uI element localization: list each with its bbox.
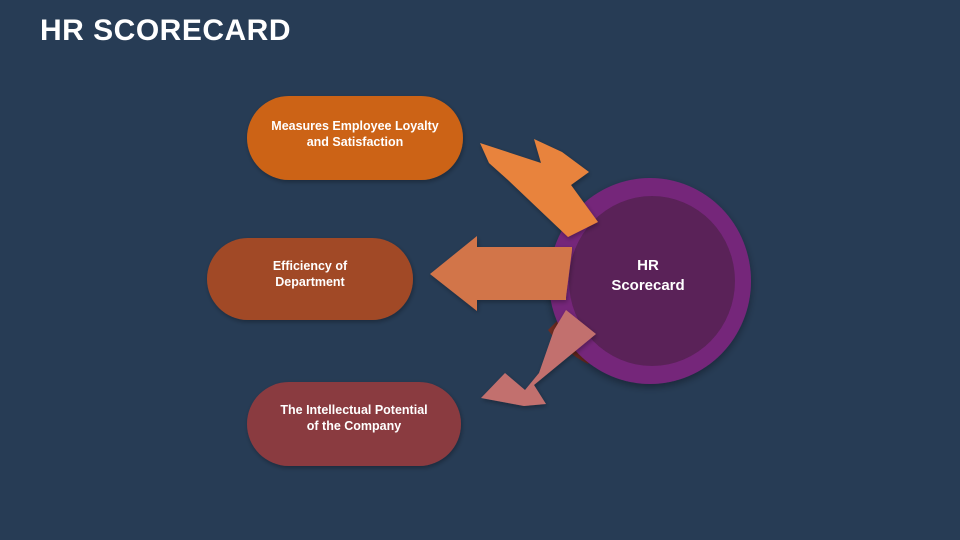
hr-scorecard-diagram (0, 0, 960, 540)
arrow-loyalty[interactable] (480, 139, 598, 237)
slide-canvas: HR SCORECARD (0, 0, 960, 540)
node-efficiency[interactable] (207, 238, 413, 320)
node-potential[interactable] (247, 382, 461, 466)
node-loyalty[interactable] (247, 96, 463, 180)
arrow-efficiency[interactable] (430, 236, 572, 311)
